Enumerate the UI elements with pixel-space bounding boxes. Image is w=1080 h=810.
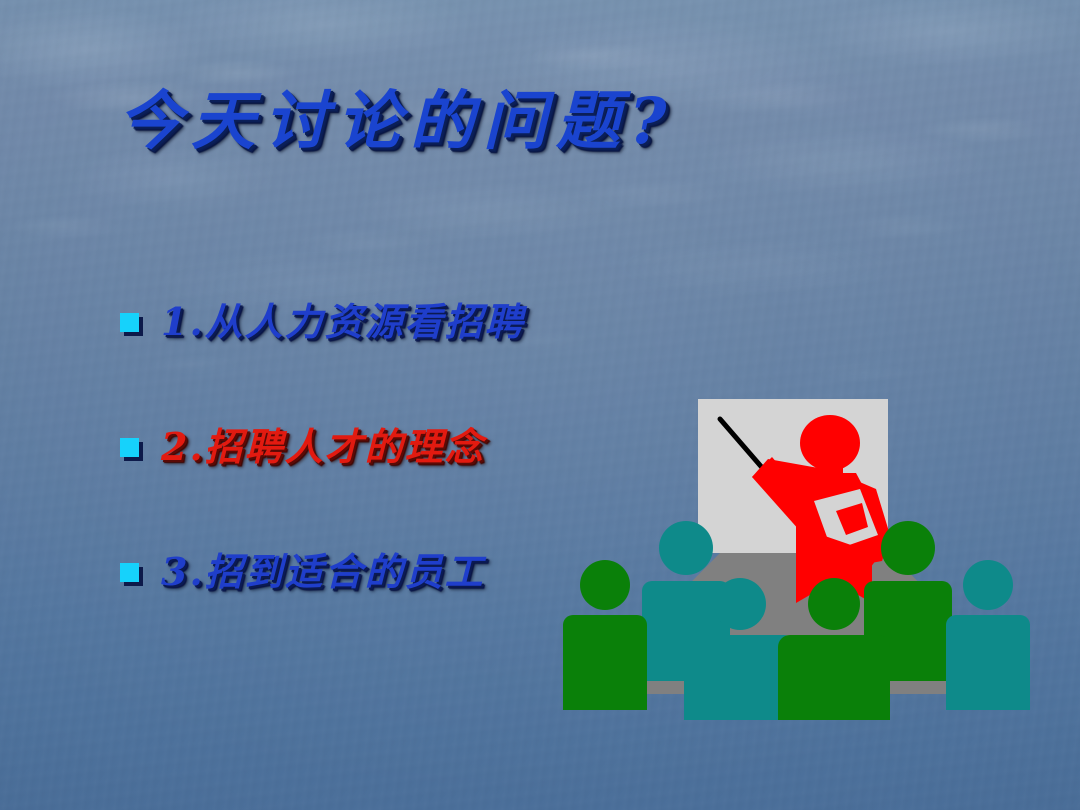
- square-bullet-icon: [120, 313, 139, 332]
- audience-person-far-left: [563, 560, 647, 710]
- bullet-item-1: 1.从人力资源看招聘: [120, 292, 660, 352]
- audience-person-far-right: [946, 560, 1030, 710]
- classroom-presentation-clipart: [560, 385, 1050, 720]
- square-bullet-icon: [120, 438, 139, 457]
- bullet-label-2: 2.招聘人才的理念: [161, 424, 485, 470]
- slide-title: 今天讨论的问题?: [118, 78, 818, 168]
- presentation-slide: 今天讨论的问题? 1.从人力资源看招聘 2.招聘人才的理念 3.招到适合的员工: [0, 0, 1080, 810]
- bullet-label-3: 3.招到适合的员工: [161, 549, 485, 595]
- square-bullet-icon: [120, 563, 139, 582]
- bullet-label-1: 1.从人力资源看招聘: [161, 299, 525, 345]
